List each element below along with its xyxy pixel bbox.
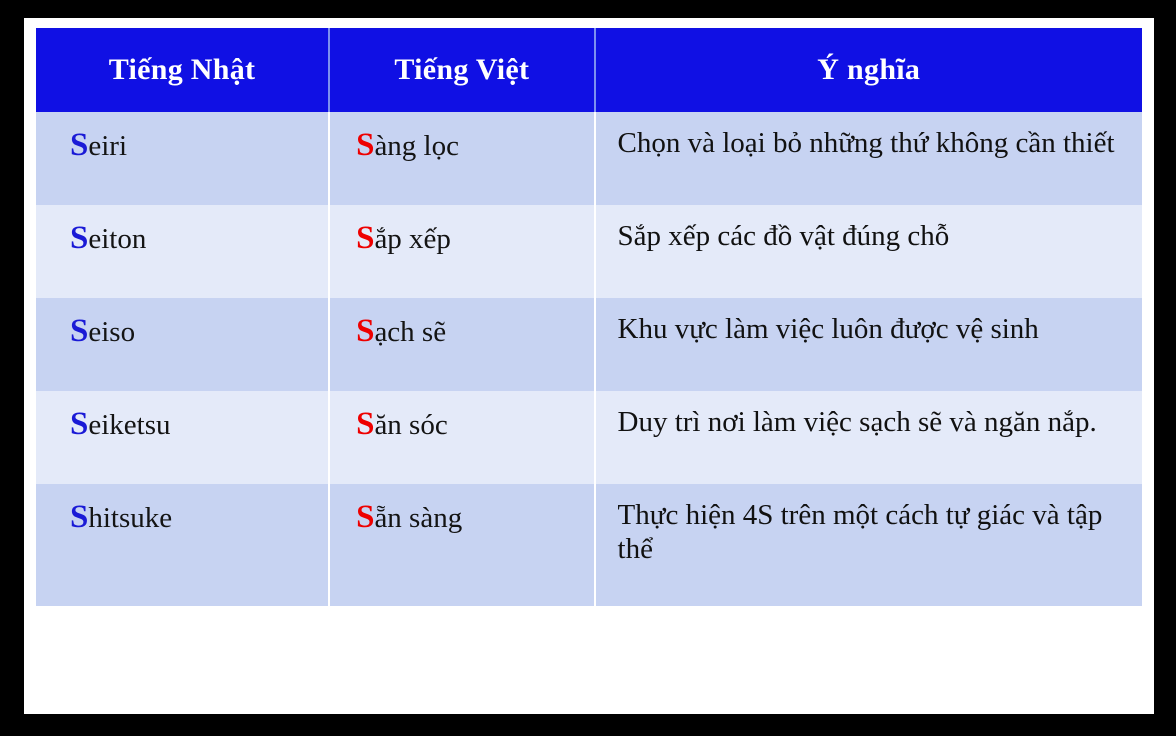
cell-japanese: Seiton bbox=[36, 205, 329, 298]
lead-letter-vietnamese: S bbox=[356, 499, 374, 535]
cell-vietnamese: Săn sóc bbox=[329, 391, 594, 484]
lead-letter-japanese: S bbox=[70, 499, 88, 535]
cell-japanese-rest: eiri bbox=[88, 130, 127, 162]
table-row: Shitsuke Sẵn sàng Thực hiện 4S trên một … bbox=[36, 484, 1142, 606]
cell-vietnamese: Sạch sẽ bbox=[329, 298, 594, 391]
cell-vietnamese-rest: ắp xếp bbox=[374, 223, 451, 255]
cell-vietnamese-rest: ăn sóc bbox=[374, 409, 447, 441]
table-row: Seiri Sàng lọc Chọn và loại bỏ những thứ… bbox=[36, 112, 1142, 205]
lead-letter-vietnamese: S bbox=[356, 127, 374, 163]
table-header: Tiếng Nhật Tiếng Việt Ý nghĩa bbox=[36, 28, 1142, 112]
cell-vietnamese-rest: ẵn sàng bbox=[374, 502, 462, 534]
column-header-japanese: Tiếng Nhật bbox=[36, 28, 329, 112]
lead-letter-japanese: S bbox=[70, 220, 88, 256]
lead-letter-japanese: S bbox=[70, 313, 88, 349]
lead-letter-vietnamese: S bbox=[356, 313, 374, 349]
cell-vietnamese-rest: àng lọc bbox=[374, 130, 459, 162]
cell-meaning: Chọn và loại bỏ những thứ không cần thiế… bbox=[595, 112, 1142, 205]
lead-letter-vietnamese: S bbox=[356, 220, 374, 256]
table-body: Seiri Sàng lọc Chọn và loại bỏ những thứ… bbox=[36, 112, 1142, 606]
lead-letter-vietnamese: S bbox=[356, 406, 374, 442]
lead-letter-japanese: S bbox=[70, 406, 88, 442]
five-s-table: Tiếng Nhật Tiếng Việt Ý nghĩa Seiri Sàng… bbox=[36, 28, 1142, 606]
cell-japanese: Seiso bbox=[36, 298, 329, 391]
cell-japanese-rest: eiso bbox=[88, 316, 135, 348]
table-row: Seiso Sạch sẽ Khu vực làm việc luôn được… bbox=[36, 298, 1142, 391]
table-row: Seiton Sắp xếp Sắp xếp các đồ vật đúng c… bbox=[36, 205, 1142, 298]
cell-vietnamese: Sẵn sàng bbox=[329, 484, 594, 606]
cell-japanese: Shitsuke bbox=[36, 484, 329, 606]
lead-letter-japanese: S bbox=[70, 127, 88, 163]
header-row: Tiếng Nhật Tiếng Việt Ý nghĩa bbox=[36, 28, 1142, 112]
table-row: Seiketsu Săn sóc Duy trì nơi làm việc sạ… bbox=[36, 391, 1142, 484]
cell-japanese-rest: hitsuke bbox=[88, 502, 172, 534]
column-header-vietnamese: Tiếng Việt bbox=[329, 28, 594, 112]
cell-japanese: Seiri bbox=[36, 112, 329, 205]
table-canvas: Tiếng Nhật Tiếng Việt Ý nghĩa Seiri Sàng… bbox=[24, 18, 1154, 714]
cell-meaning: Thực hiện 4S trên một cách tự giác và tậ… bbox=[595, 484, 1142, 606]
cell-meaning: Khu vực làm việc luôn được vệ sinh bbox=[595, 298, 1142, 391]
cell-japanese: Seiketsu bbox=[36, 391, 329, 484]
cell-meaning: Duy trì nơi làm việc sạch sẽ và ngăn nắp… bbox=[595, 391, 1142, 484]
cell-vietnamese-rest: ạch sẽ bbox=[374, 316, 446, 348]
cell-vietnamese: Sàng lọc bbox=[329, 112, 594, 205]
cell-meaning: Sắp xếp các đồ vật đúng chỗ bbox=[595, 205, 1142, 298]
cell-japanese-rest: eiketsu bbox=[88, 409, 170, 441]
cell-vietnamese: Sắp xếp bbox=[329, 205, 594, 298]
image-frame: Tiếng Nhật Tiếng Việt Ý nghĩa Seiri Sàng… bbox=[0, 0, 1176, 736]
column-header-meaning: Ý nghĩa bbox=[595, 28, 1142, 112]
cell-japanese-rest: eiton bbox=[88, 223, 146, 255]
